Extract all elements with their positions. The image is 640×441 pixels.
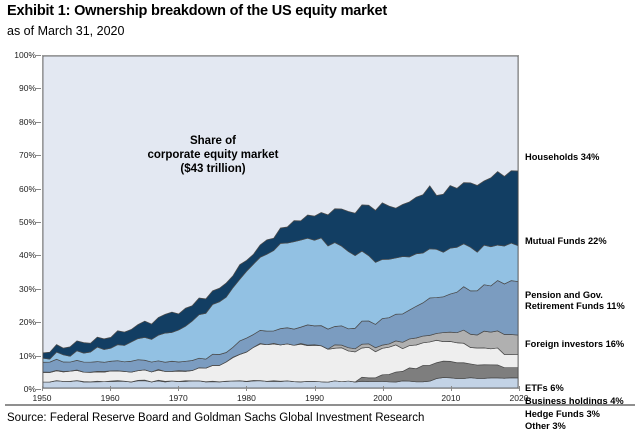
y-tick-mark [36,389,41,390]
y-tick-mark [36,289,41,290]
x-tick-mark [519,386,520,391]
x-tick-mark [451,386,452,391]
y-tick-label: 60% [19,184,36,194]
annotation-line-2: corporate equity market [118,148,308,162]
y-tick-label: 50% [19,217,36,227]
x-tick-label: 1990 [305,393,324,403]
y-tick-label: 10% [19,351,36,361]
y-tick-mark [36,222,41,223]
x-tick-mark [246,386,247,391]
y-tick-label: 70% [19,150,36,160]
series-label-mutual-funds: Mutual Funds 22% [525,236,607,247]
footer-divider [5,404,635,406]
series-label-etfs: ETFs 6% [525,383,564,394]
series-label-pension-line2: Retirement Funds 11% [525,301,625,312]
series-label-foreign-investors: Foreign investors 16% [525,339,624,350]
y-tick-mark [36,155,41,156]
y-tick-label: 40% [19,250,36,260]
chart-annotation: Share of corporate equity market ($43 tr… [118,134,308,176]
y-tick-label: 80% [19,117,36,127]
x-tick-label: 2010 [441,393,460,403]
annotation-line-1: Share of [118,134,308,148]
series-label-pension-line1: Pension and Gov. [525,290,603,301]
series-label-other: Other 3% [525,421,566,432]
y-tick-mark [36,55,41,56]
stacked-area-chart [43,56,518,388]
x-tick-mark [178,386,179,391]
chart-container: 0%10%20%30%40%50%60%70%80%90%100% Share … [0,46,640,398]
x-tick-label: 1960 [101,393,120,403]
x-tick-label: 1950 [33,393,52,403]
y-tick-mark [36,255,41,256]
page-subtitle: as of March 31, 2020 [7,24,124,38]
y-tick-mark [36,122,41,123]
x-tick-mark [42,386,43,391]
plot-area [42,55,519,389]
annotation-line-3: ($43 trillion) [118,162,308,176]
y-tick-mark [36,356,41,357]
x-tick-mark [110,386,111,391]
y-tick-label: 90% [19,83,36,93]
page-title: Exhibit 1: Ownership breakdown of the US… [7,3,387,19]
x-tick-mark [315,386,316,391]
y-tick-mark [36,189,41,190]
series-label-households: Households 34% [525,152,599,163]
y-tick-label: 100% [14,50,36,60]
y-tick-mark [36,322,41,323]
source-note: Source: Federal Reserve Board and Goldma… [7,412,424,424]
series-label-hedge-funds: Hedge Funds 3% [525,409,600,420]
y-tick-label: 20% [19,317,36,327]
x-tick-label: 1970 [169,393,188,403]
x-tick-mark [383,386,384,391]
x-tick-label: 1980 [237,393,256,403]
y-tick-label: 30% [19,284,36,294]
y-axis: 0%10%20%30%40%50%60%70%80%90%100% [0,46,40,398]
x-tick-label: 2000 [373,393,392,403]
y-tick-mark [36,88,41,89]
